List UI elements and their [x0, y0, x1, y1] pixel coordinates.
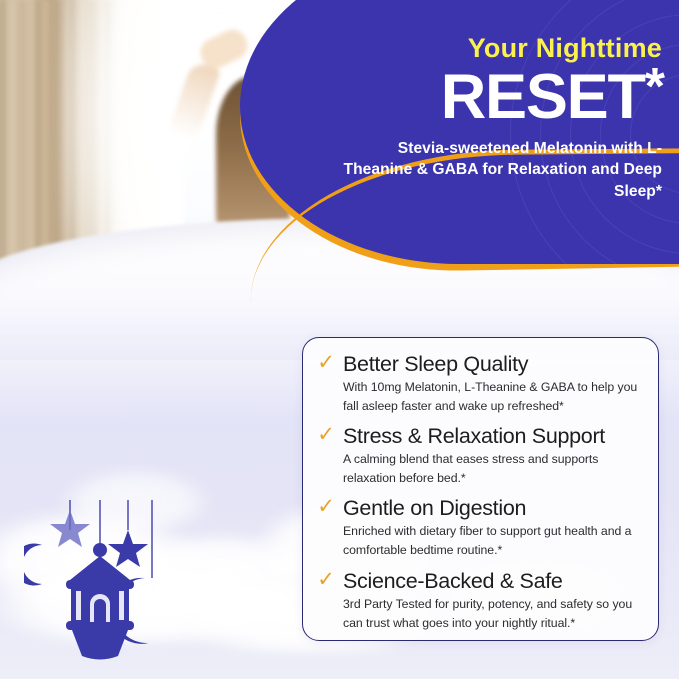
benefit-title: Gentle on Digestion [343, 496, 642, 520]
lantern-bar [119, 591, 124, 620]
list-item: ✓ Stress & Relaxation Support A calming … [317, 424, 642, 488]
star-icon [50, 510, 90, 547]
benefit-body: Science-Backed & Safe 3rd Party Tested f… [343, 569, 642, 633]
check-icon: ✓ [317, 496, 335, 518]
page-title: RESET* [330, 63, 662, 127]
benefit-body: Stress & Relaxation Support A calming bl… [343, 424, 642, 488]
poster-canvas: Your Nighttime RESET* Stevia-sweetened M… [0, 0, 679, 679]
list-item: ✓ Gentle on Digestion Enriched with diet… [317, 496, 642, 560]
header-subhead: Stevia-sweetened Melatonin with L-Theani… [330, 138, 662, 203]
asterisk-icon: * [645, 58, 662, 116]
header-text-block: Your Nighttime RESET* Stevia-sweetened M… [330, 34, 662, 202]
benefit-description: A calming blend that eases stress and su… [343, 450, 642, 488]
benefit-description: 3rd Party Tested for purity, potency, an… [343, 595, 642, 633]
check-icon: ✓ [317, 352, 335, 374]
benefit-body: Better Sleep Quality With 10mg Melatonin… [343, 352, 642, 416]
benefit-description: With 10mg Melatonin, L-Theanine & GABA t… [343, 378, 642, 416]
check-icon: ✓ [317, 424, 335, 446]
lantern-window-inner [94, 599, 106, 622]
headline-word: RESET [441, 62, 645, 132]
list-item: ✓ Science-Backed & Safe 3rd Party Tested… [317, 569, 642, 633]
check-icon: ✓ [317, 569, 335, 591]
benefits-card: ✓ Better Sleep Quality With 10mg Melaton… [302, 337, 659, 641]
lantern-decoration-group [24, 500, 214, 665]
star-icon [108, 530, 148, 567]
crescent-moon-icon [24, 544, 42, 586]
benefit-body: Gentle on Digestion Enriched with dietar… [343, 496, 642, 560]
benefit-description: Enriched with dietary fiber to support g… [343, 522, 642, 560]
list-item: ✓ Better Sleep Quality With 10mg Melaton… [317, 352, 642, 416]
benefit-title: Better Sleep Quality [343, 352, 642, 376]
header-kicker: Your Nighttime [330, 34, 662, 62]
benefit-title: Stress & Relaxation Support [343, 424, 642, 448]
benefit-title: Science-Backed & Safe [343, 569, 642, 593]
lantern-bar [76, 591, 81, 620]
